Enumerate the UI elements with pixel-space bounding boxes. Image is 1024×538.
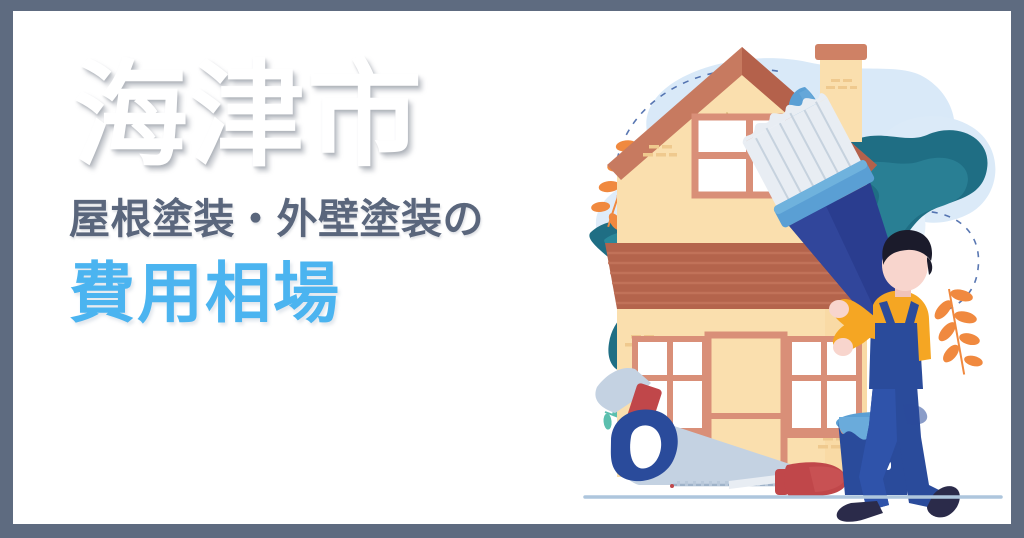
subtitle: 屋根塗装・外壁塗装の <box>61 196 601 243</box>
banner-frame: 海津市 屋根塗装・外壁塗装の 費用相場 <box>0 0 1024 538</box>
text-block: 海津市 屋根塗装・外壁塗装の 費用相場 <box>61 59 601 449</box>
page-title: 海津市 <box>61 59 601 174</box>
house-painting-illustration <box>577 17 1007 524</box>
banner-card: 海津市 屋根塗装・外壁塗装の 費用相場 <box>13 11 1011 524</box>
headline: 費用相場 <box>61 257 601 331</box>
